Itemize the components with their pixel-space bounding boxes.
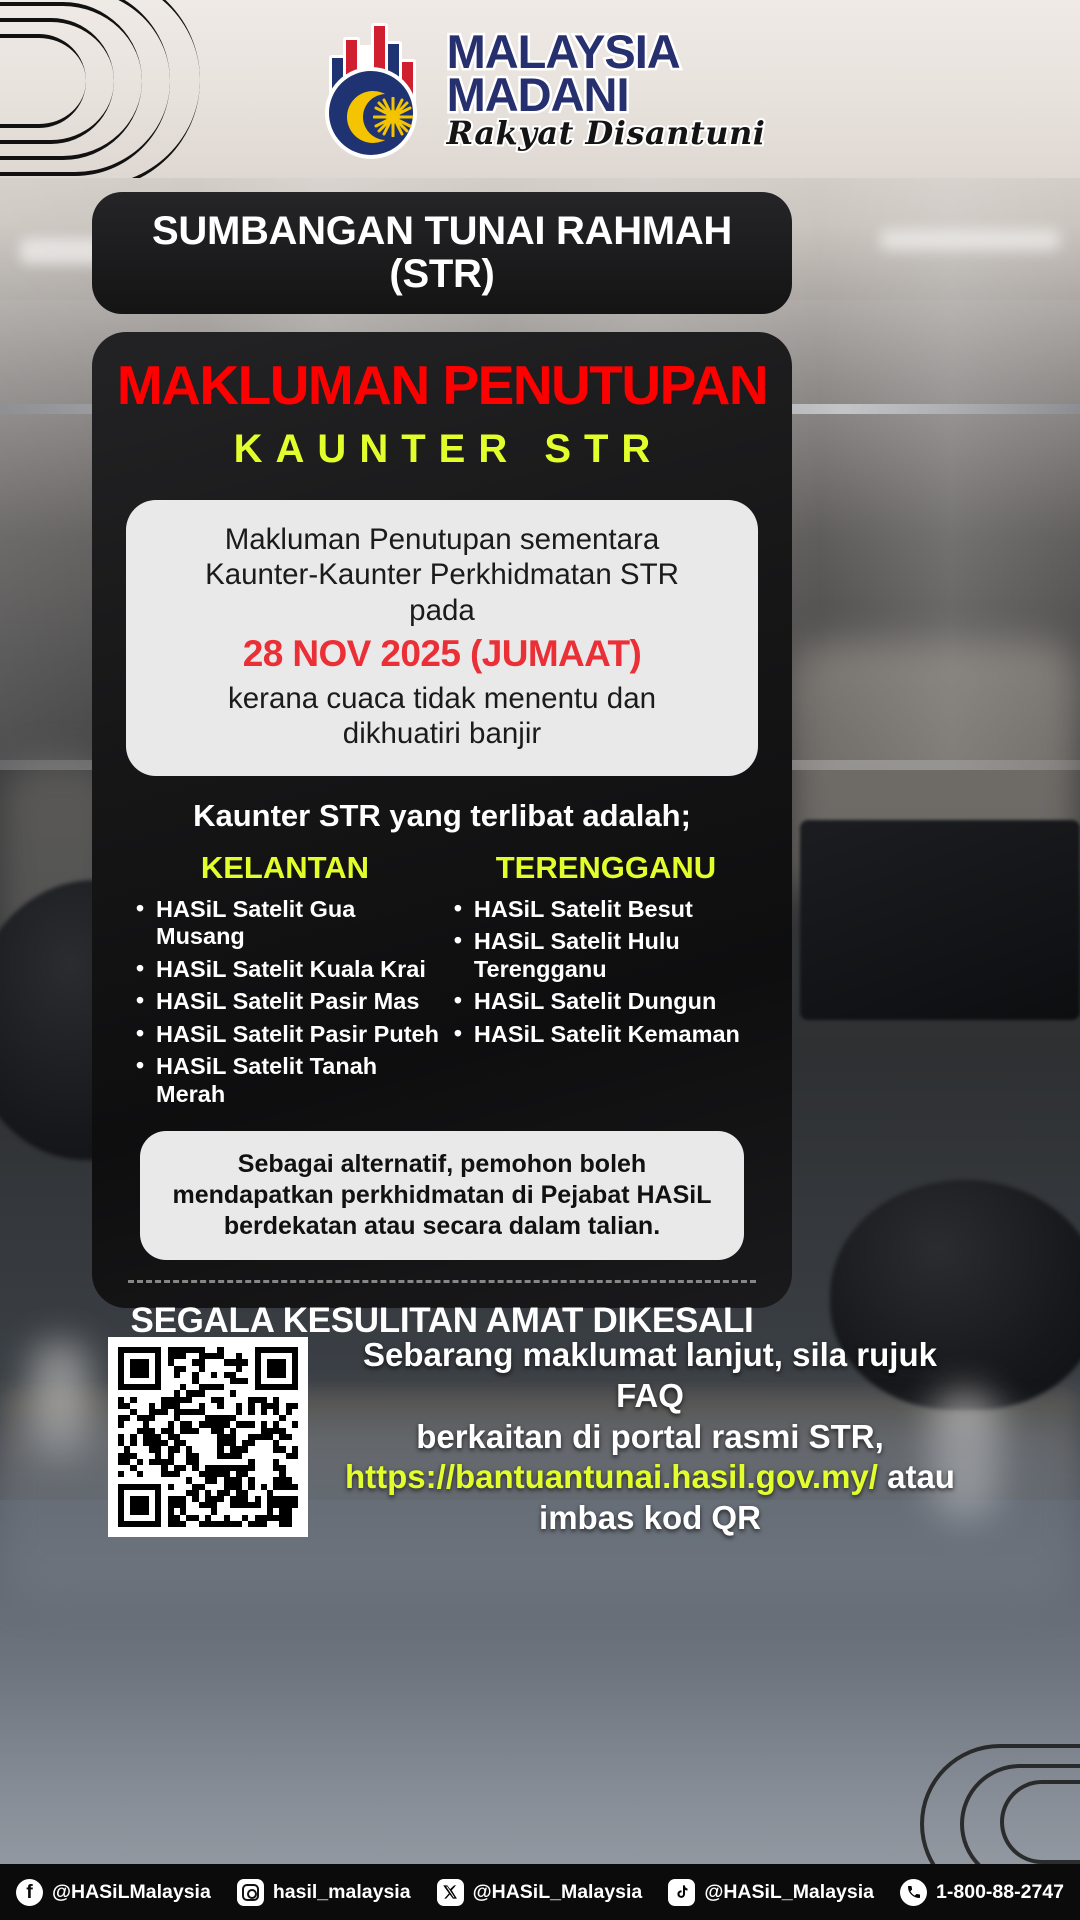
decorative-arcs-bottom: [840, 1664, 1080, 1864]
computer-monitor: [800, 820, 1080, 1020]
top-logo-band: MALAYSIA MADANI Rakyat Disantuni: [0, 0, 1080, 178]
crescent-star-emblem: [325, 67, 417, 159]
notice-line-5: dikhuatiri banjir: [150, 716, 734, 751]
notice-line-3: pada: [150, 593, 734, 628]
portal-link[interactable]: https://bantuantunai.hasil.gov.my/: [345, 1458, 878, 1495]
qr-instructions: Sebarang maklumat lanjut, sila rujuk FAQ…: [330, 1335, 970, 1540]
qr-info-section: Sebarang maklumat lanjut, sila rujuk FAQ…: [0, 1322, 1080, 1552]
state-title: KELANTAN: [130, 850, 440, 886]
notice-line-1: Makluman Penutupan sementara: [150, 522, 734, 557]
instagram-icon: [237, 1879, 264, 1906]
notice-line-4: kerana cuaca tidak menentu dan: [150, 681, 734, 716]
social-handle: @HASiL_Malaysia: [704, 1881, 874, 1904]
headline-red: MAKLUMAN PENUTUPAN: [114, 358, 770, 413]
qr-line-4: imbas kod QR: [330, 1498, 970, 1539]
star-icon: [373, 97, 413, 137]
dashed-divider: [128, 1280, 756, 1283]
logo-line-1: MALAYSIA: [447, 30, 766, 73]
counter-list-terengganu: HASiL Satelit Besut HASiL Satelit Hulu T…: [448, 896, 764, 1048]
headline-yellow: KAUNTER STR: [114, 427, 770, 472]
social-tiktok[interactable]: @HASiL_Malaysia: [668, 1879, 874, 1906]
list-item: HASiL Satelit Gua Musang: [130, 896, 440, 951]
list-item: HASiL Satelit Pasir Puteh: [130, 1021, 440, 1048]
counter-list-kelantan: HASiL Satelit Gua Musang HASiL Satelit K…: [130, 896, 440, 1108]
qr-code[interactable]: [108, 1337, 308, 1537]
poster-header-banner: SUMBANGAN TUNAI RAHMAH (STR): [92, 192, 792, 314]
social-handle: @HASiLMalaysia: [52, 1881, 211, 1904]
qr-code-image: [118, 1347, 298, 1527]
closure-date: 28 NOV 2025 (JUMAAT): [150, 634, 734, 675]
social-handle: hasil_malaysia: [273, 1881, 411, 1904]
social-x-twitter[interactable]: @HASiL_Malaysia: [437, 1879, 643, 1906]
social-handle: 1-800-88-2747: [936, 1881, 1064, 1904]
list-item: HASiL Satelit Kemaman: [448, 1021, 764, 1048]
tiktok-icon: [668, 1879, 695, 1906]
qr-line-2: berkaitan di portal rasmi STR,: [330, 1417, 970, 1458]
alternative-text: Sebagai alternatif, pemohon boleh mendap…: [166, 1149, 718, 1242]
states-columns: KELANTAN HASiL Satelit Gua Musang HASiL …: [114, 850, 770, 1113]
state-column-terengganu: TERENGGANU HASiL Satelit Besut HASiL Sat…: [440, 850, 764, 1113]
list-item: HASiL Satelit Hulu Terengganu: [448, 928, 764, 983]
list-item: HASiL Satelit Dungun: [448, 988, 764, 1015]
notice-box: Makluman Penutupan sementara Kaunter-Kau…: [126, 500, 758, 776]
social-facebook[interactable]: f @HASiLMalaysia: [16, 1879, 211, 1906]
notice-line-2: Kaunter-Kaunter Perkhidmatan STR: [150, 557, 734, 592]
madani-logo-icon: [315, 19, 433, 159]
state-title: TERENGGANU: [448, 850, 764, 886]
list-item: HASiL Satelit Pasir Mas: [130, 988, 440, 1015]
logo-tagline: Rakyat Disantuni: [447, 119, 766, 148]
malaysia-madani-logo: MALAYSIA MADANI Rakyat Disantuni: [0, 0, 1080, 178]
social-instagram[interactable]: hasil_malaysia: [237, 1879, 411, 1906]
list-item: HASiL Satelit Kuala Krai: [130, 956, 440, 983]
x-twitter-icon: [437, 1879, 464, 1906]
list-item: HASiL Satelit Tanah Merah: [130, 1053, 440, 1108]
page-title: SUMBANGAN TUNAI RAHMAH (STR): [118, 210, 766, 296]
social-phone[interactable]: 1-800-88-2747: [900, 1879, 1064, 1906]
qr-line-3-suffix: atau: [878, 1458, 955, 1495]
qr-line-3: https://bantuantunai.hasil.gov.my/ atau: [330, 1457, 970, 1498]
affected-counters-subheading: Kaunter STR yang terlibat adalah;: [114, 798, 770, 834]
announcement-card: MAKLUMAN PENUTUPAN KAUNTER STR Makluman …: [92, 332, 792, 1308]
alternative-notice-box: Sebagai alternatif, pemohon boleh mendap…: [140, 1131, 744, 1260]
list-item: HASiL Satelit Besut: [448, 896, 764, 923]
phone-icon: [900, 1879, 927, 1906]
social-media-bar: f @HASiLMalaysia hasil_malaysia @HASiL_M…: [0, 1864, 1080, 1920]
facebook-icon: f: [16, 1879, 43, 1906]
qr-line-1: Sebarang maklumat lanjut, sila rujuk FAQ: [330, 1335, 970, 1417]
social-handle: @HASiL_Malaysia: [473, 1881, 643, 1904]
logo-line-2: MADANI: [447, 73, 766, 116]
state-column-kelantan: KELANTAN HASiL Satelit Gua Musang HASiL …: [120, 850, 440, 1113]
